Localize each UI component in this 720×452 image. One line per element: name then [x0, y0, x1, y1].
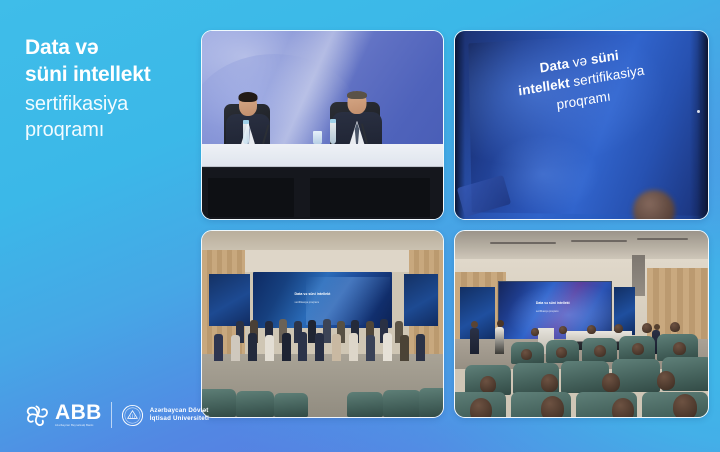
audience-head — [521, 349, 532, 360]
headline-line-3: sertifikasiya — [25, 91, 196, 117]
university-emblem-icon — [121, 404, 144, 427]
headline-line-2: süni intellekt — [25, 61, 196, 88]
water-bottle-right — [330, 119, 336, 144]
group-person — [248, 333, 257, 361]
audience-seating — [455, 320, 708, 417]
ceiling-strip — [571, 240, 627, 242]
banner-title: Data və süni intellekt — [295, 292, 331, 297]
ceiling-strip — [490, 242, 556, 244]
desk-panel-left — [208, 178, 294, 217]
auditorium-seat — [347, 392, 383, 417]
photo-group-photo: Data və süni intellekt sertifikasiya pro… — [202, 231, 443, 417]
hall-ceiling — [455, 231, 708, 261]
hall-wall-upper — [243, 250, 412, 272]
group-person — [315, 333, 324, 361]
banner-subtitle: sertifikasiya proqramı — [295, 301, 320, 304]
university-logo: Azərbaycan Dövlət İqtisad Universiteti — [121, 404, 209, 427]
audience-head — [670, 322, 680, 332]
auditorium-seat — [236, 391, 275, 417]
water-glass — [313, 131, 322, 144]
photo-card-presentation-screen: Data və süni intellekt sertifikasiya pro… — [454, 30, 709, 220]
audience-head — [614, 324, 623, 333]
audience-head — [587, 325, 596, 334]
screen-edge-right — [690, 31, 708, 219]
abb-tagline: Azərbaycan Beynəlxalq Bankı — [55, 425, 102, 428]
university-wordmark: Azərbaycan Dövlət İqtisad Universiteti — [150, 407, 209, 423]
screen-l1-bold: Data — [539, 56, 570, 76]
audience-head — [673, 394, 697, 417]
abb-name: ABB — [55, 402, 102, 423]
group-person — [214, 334, 223, 361]
audience-head — [594, 345, 606, 357]
photo-card-audience-hall: Data və süni intellekt sertifikasiya pro… — [454, 230, 709, 418]
logo-lockup: ABB Azərbaycan Beynəlxalq Bankı Azərbayc… — [25, 402, 209, 428]
auditorium-seat — [274, 393, 308, 417]
desk-panel-right — [310, 178, 430, 217]
group-person — [332, 334, 341, 361]
bottle-cap-right — [330, 119, 336, 123]
bottle-cap-left — [243, 120, 249, 124]
group-person — [349, 333, 358, 361]
screen-l1-light: və — [568, 52, 592, 71]
audience-head — [541, 374, 558, 392]
headline-line-4: proqramı — [25, 117, 196, 143]
group-person — [366, 335, 375, 361]
audience-head — [480, 376, 496, 393]
photo-audience-hall: Data və süni intellekt sertifikasiya pro… — [455, 231, 708, 417]
abb-pinwheel-icon — [25, 403, 50, 428]
university-line-1: Azərbaycan Dövlət — [150, 407, 209, 415]
left-text-column: Data və süni intellekt sertifikasiya pro… — [0, 0, 196, 452]
audience-head — [642, 323, 652, 333]
group-person — [231, 335, 240, 361]
photo-card-panel-speakers — [201, 30, 444, 220]
auditorium-seat — [383, 390, 422, 417]
group-person — [265, 335, 274, 361]
audience-head — [602, 373, 620, 392]
screen-subtitle: sertifikasiya proqramı — [536, 310, 559, 313]
photo-presentation-screen: Data və süni intellekt sertifikasiya pro… — [455, 31, 708, 219]
photo-grid: Data və süni intellekt sertifikasiya pro… — [201, 30, 709, 428]
group-row-front — [202, 331, 443, 361]
page-title: Data və süni intellekt sertifikasiya pro… — [25, 34, 196, 143]
photo-card-group-photo: Data və süni intellekt sertifikasiya pro… — [201, 230, 444, 418]
audience-head — [657, 371, 675, 390]
group-person — [400, 335, 409, 361]
poster-canvas: Data və süni intellekt sertifikasiya pro… — [0, 0, 720, 452]
seat-rows — [202, 361, 443, 417]
audience-head — [531, 328, 539, 336]
ceiling-strip — [637, 238, 688, 240]
audience-head — [632, 343, 644, 355]
headline-line-1: Data və — [25, 34, 196, 61]
group-person — [298, 332, 307, 361]
abb-wordmark: ABB Azərbaycan Beynəlxalq Bankı — [55, 402, 102, 428]
audience-head — [612, 398, 634, 417]
group-person — [416, 334, 425, 361]
group-person — [383, 333, 392, 361]
logo-divider — [111, 402, 112, 428]
photo-panel-speakers — [202, 31, 443, 219]
hair-right — [347, 91, 367, 99]
audience-head — [673, 342, 686, 355]
audience-head — [556, 347, 567, 358]
group-person — [282, 333, 291, 361]
abb-logo: ABB Azərbaycan Beynəlxalq Bankı — [25, 402, 102, 428]
screen-l1-bold2: süni — [590, 47, 619, 67]
audience-head — [559, 326, 567, 334]
hair-left — [239, 92, 258, 102]
audience-head — [541, 396, 564, 417]
screen-title: Data və süni intellekt — [536, 301, 570, 305]
auditorium-seat — [419, 388, 443, 417]
university-line-2: İqtisad Universiteti — [150, 415, 209, 423]
